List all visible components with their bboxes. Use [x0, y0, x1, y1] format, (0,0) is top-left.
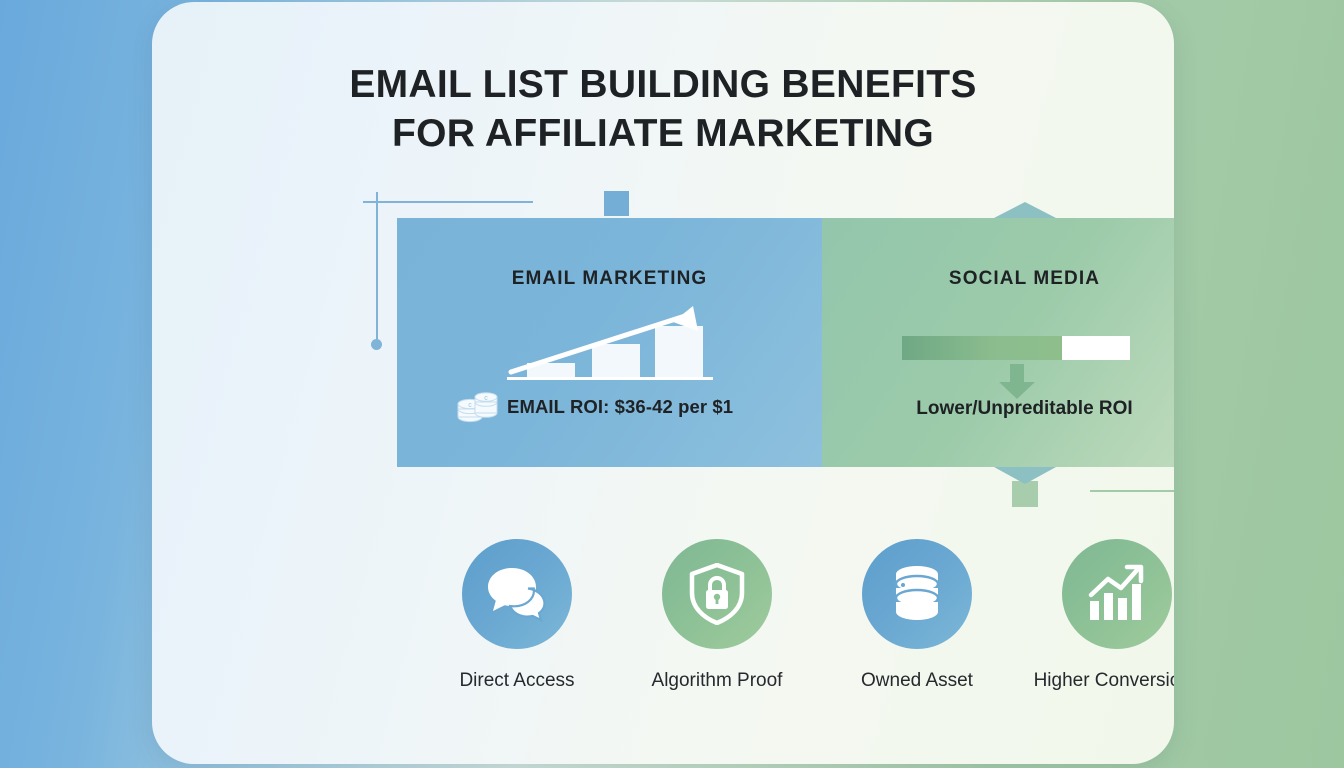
decor-horizontal-line-green [1090, 490, 1174, 492]
title-line-2: FOR AFFILIATE MARKETING [152, 109, 1174, 158]
benefit-algorithm-proof[interactable]: Algorithm Proof [617, 539, 817, 692]
database-icon [889, 563, 945, 625]
decor-vertical-line-blue [376, 192, 378, 344]
benefit-icon-circle-1 [462, 539, 572, 649]
panel-email-marketing-heading: EMAIL MARKETING [397, 268, 822, 290]
benefit-icon-circle-3 [862, 539, 972, 649]
infographic-card: EMAIL LIST BUILDING BENEFITS FOR AFFILIA… [152, 2, 1174, 764]
panel-social-media-heading: SOCIAL MEDIA [822, 268, 1174, 290]
social-roi-label: Lower/Unpreditable ROI [822, 398, 1174, 420]
decor-dot-blue [371, 339, 382, 350]
benefit-owned-asset[interactable]: Owned Asset [817, 539, 1017, 692]
email-roi-row: c c EMAIL ROI: $36-42 per $1 [455, 389, 733, 425]
growth-bar-chart-icon [507, 304, 713, 384]
comparison-block: EMAIL MARKETING [397, 218, 1174, 467]
benefit-icon-circle-2 [662, 539, 772, 649]
title-line-1: EMAIL LIST BUILDING BENEFITS [349, 63, 976, 106]
benefit-higher-conversions[interactable]: Higher Conversions [1017, 539, 1174, 692]
divider-chevron-down-icon [994, 467, 1056, 484]
growth-chart-icon [1086, 564, 1148, 624]
page-title: EMAIL LIST BUILDING BENEFITS FOR AFFILIA… [152, 60, 1174, 158]
panel-social-media: SOCIAL MEDIA Lower/Unpreditable ROI [822, 218, 1174, 467]
benefit-label-3: Owned Asset [861, 670, 973, 692]
social-roi-progress-bar [902, 336, 1130, 360]
chat-bubbles-icon [486, 566, 548, 622]
decor-square-blue [604, 191, 629, 216]
svg-text:c: c [468, 402, 472, 409]
benefit-icon-circle-4 [1062, 539, 1172, 649]
email-roi-label: EMAIL ROI: $36-42 per $1 [507, 396, 733, 418]
benefit-direct-access[interactable]: Direct Access [417, 539, 617, 692]
benefit-label-1: Direct Access [459, 670, 574, 692]
decor-square-green [1012, 481, 1038, 507]
social-roi-progress-fill [902, 336, 1062, 360]
benefits-row: Direct Access Algorithm Proof [417, 539, 1174, 692]
decor-horizontal-line-blue [363, 201, 533, 203]
svg-text:c: c [484, 395, 488, 402]
panel-email-marketing: EMAIL MARKETING [397, 218, 822, 467]
divider-chevron-up-icon [994, 202, 1056, 218]
coins-icon: c c [455, 389, 499, 425]
shield-lock-icon [689, 563, 745, 625]
benefit-label-2: Algorithm Proof [652, 670, 783, 692]
arrow-down-icon [998, 364, 1036, 400]
infographic-stage: EMAIL LIST BUILDING BENEFITS FOR AFFILIA… [0, 0, 1344, 768]
benefit-label-4: Higher Conversions [1034, 670, 1174, 692]
